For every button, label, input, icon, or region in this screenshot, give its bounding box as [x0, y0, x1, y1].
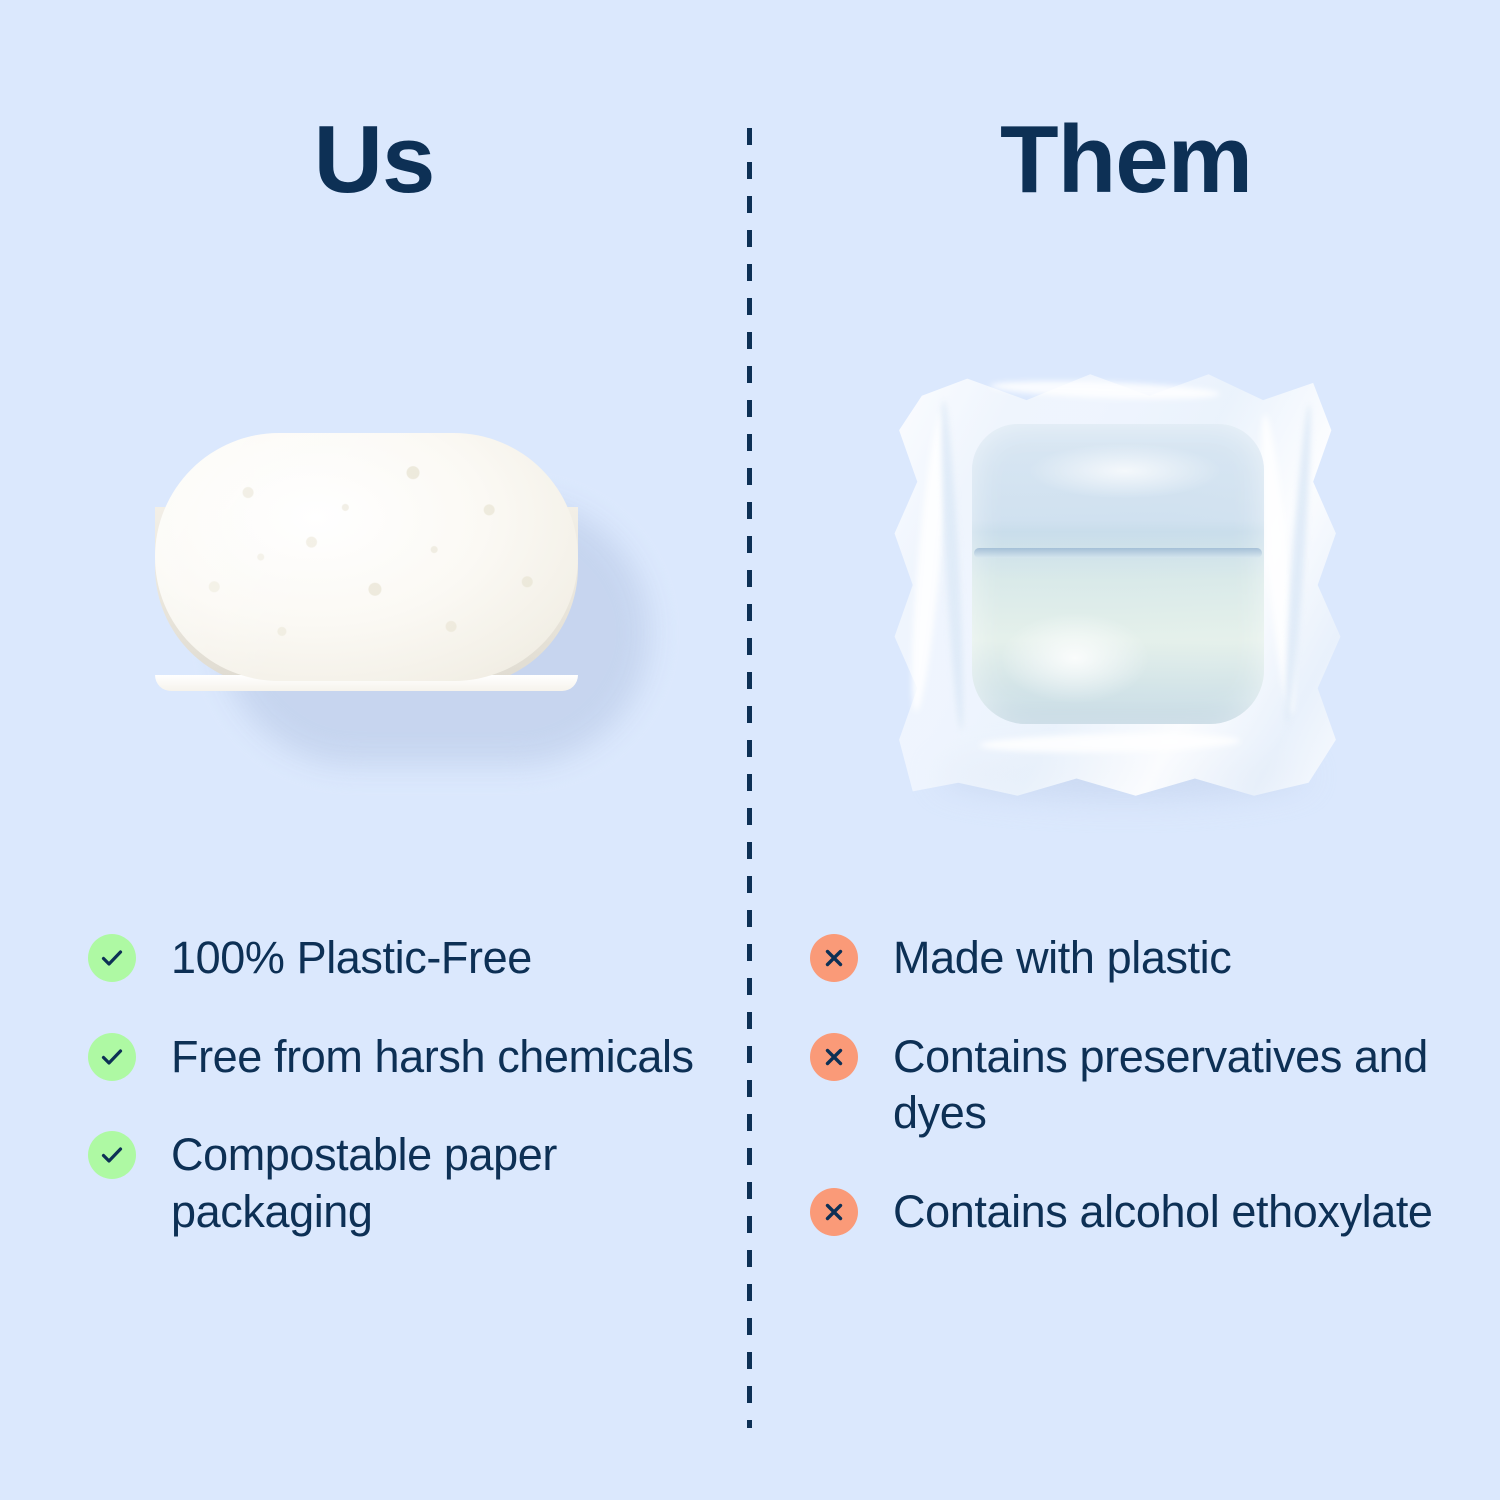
pod-highlight: [1030, 444, 1220, 498]
comparison-board: Us 100% Plastic-Free: [0, 0, 1500, 1500]
list-item: 100% Plastic-Free: [88, 930, 836, 987]
list-item: Contains preservatives and dyes: [810, 1029, 1500, 1142]
list-item-label: 100% Plastic-Free: [171, 930, 532, 987]
pod-liquid-line: [974, 548, 1262, 558]
heading-them: Them: [752, 112, 1500, 208]
check-icon: [88, 1131, 136, 1179]
plastic-pod-image: [880, 352, 1360, 822]
hero-them: [752, 330, 1500, 860]
benefit-list-us: 100% Plastic-Free Free from harsh chemic…: [0, 930, 836, 1241]
list-item: Free from harsh chemicals: [88, 1029, 836, 1086]
list-item: Contains alcohol ethoxylate: [810, 1184, 1500, 1241]
pod-highlight: [1000, 612, 1150, 704]
list-item-label: Made with plastic: [893, 930, 1231, 987]
list-item-label: Free from harsh chemicals: [171, 1029, 694, 1086]
hero-us: [0, 330, 748, 860]
detergent-tablet-image: [145, 395, 645, 795]
cross-icon: [810, 1188, 858, 1236]
list-item: Made with plastic: [810, 930, 1500, 987]
check-icon: [88, 934, 136, 982]
tablet-top-face: [155, 433, 578, 681]
heading-us: Us: [0, 112, 748, 208]
list-item: Compostable paper packaging: [88, 1127, 836, 1240]
list-item-label: Compostable paper packaging: [171, 1127, 701, 1240]
column-them: Them: [752, 0, 1500, 1500]
cross-icon: [810, 934, 858, 982]
list-item-label: Contains alcohol ethoxylate: [893, 1184, 1433, 1241]
drawback-list-them: Made with plastic Contains preservatives…: [752, 930, 1500, 1241]
list-item-label: Contains preservatives and dyes: [893, 1029, 1493, 1142]
column-us: Us 100% Plastic-Free: [0, 0, 748, 1500]
check-icon: [88, 1033, 136, 1081]
cross-icon: [810, 1033, 858, 1081]
